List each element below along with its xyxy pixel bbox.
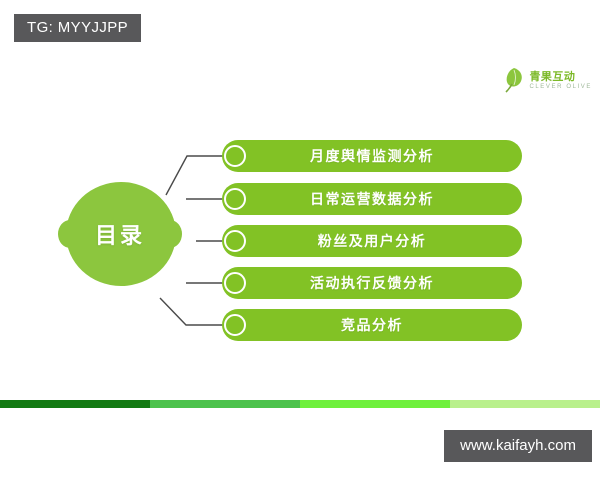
colorbar-segment-2 [150,400,300,408]
hub-label: 目录 [58,182,182,286]
logo-wordmark: 青果互动 CLEVER OLIVE [529,71,592,90]
connector-5 [160,298,225,325]
menu-item-3[interactable]: 粉丝及用户分析 [222,225,522,257]
menu-item-2-label: 日常运营数据分析 [310,189,434,209]
colorbar-segment-3 [300,400,450,408]
menu-item-4-label: 活动执行反馈分析 [310,273,434,293]
menu-item-2[interactable]: 日常运营数据分析 [222,183,522,215]
menu-item-1-label: 月度舆情监测分析 [310,146,434,166]
pill-notch-icon [224,145,246,167]
pill-notch-icon [224,188,246,210]
olive-leaf-icon [503,66,525,94]
colorbar-segment-1 [0,400,150,408]
menu-item-1[interactable]: 月度舆情监测分析 [222,140,522,172]
brand-logo: 青果互动 CLEVER OLIVE [503,66,592,94]
menu-item-3-label: 粉丝及用户分析 [318,231,427,251]
logo-name-en: CLEVER OLIVE [529,84,592,90]
tg-badge: TG: MYYJJPP [14,14,141,42]
slide-canvas: TG: MYYJJPP 青果互动 CLEVER OLIVE 目 [0,0,600,480]
menu-item-4[interactable]: 活动执行反馈分析 [222,267,522,299]
pill-notch-icon [224,314,246,336]
colorbar-segment-4 [450,400,600,408]
logo-name-cn: 青果互动 [529,71,592,82]
footer-colorbar [0,400,600,408]
pill-notch-icon [224,230,246,252]
menu-item-5[interactable]: 竞品分析 [222,309,522,341]
hub-node: 目录 [58,182,182,286]
menu-item-5-label: 竞品分析 [341,315,403,335]
site-watermark: www.kaifayh.com [444,430,592,462]
pill-notch-icon [224,272,246,294]
